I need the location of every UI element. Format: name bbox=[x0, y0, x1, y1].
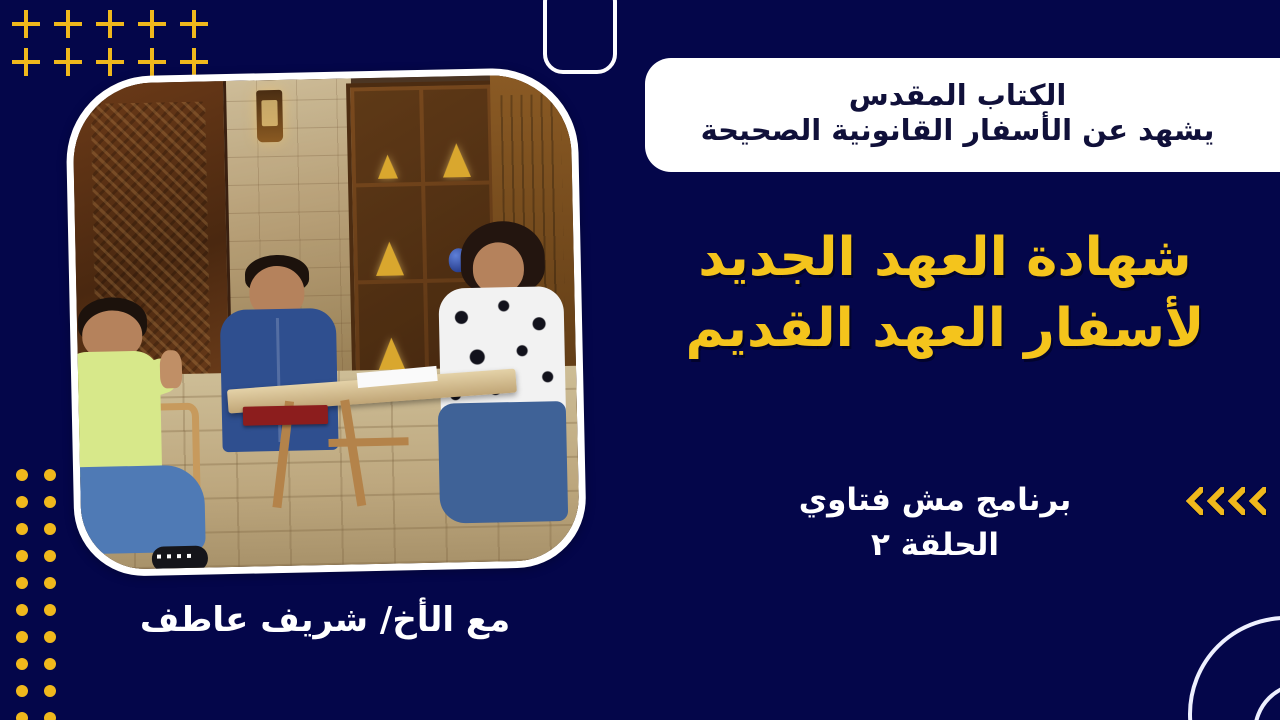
dot-icon bbox=[12, 624, 40, 651]
plus-icon bbox=[10, 6, 52, 44]
shelf-cell bbox=[356, 186, 423, 280]
table-crossbar bbox=[328, 437, 408, 447]
dot-icon bbox=[12, 516, 40, 543]
banner-line-2: يشهد عن الأسفار القانونية الصحيحة bbox=[701, 114, 1215, 147]
chevron-right-icon bbox=[1186, 487, 1203, 515]
dot-icon bbox=[12, 651, 40, 678]
presenter-caption: مع الأخ/ شريف عاطف bbox=[95, 600, 555, 640]
dot-icon bbox=[40, 516, 68, 543]
plus-icon bbox=[178, 6, 220, 44]
chevron-arrows-decoration bbox=[1186, 487, 1266, 515]
subtitle-episode-number: الحلقة ٢ bbox=[700, 523, 1170, 568]
main-title-line-2: لأسفار العهد القديم bbox=[640, 293, 1250, 364]
studio-scene-illustration bbox=[72, 74, 580, 570]
shelf-cell bbox=[358, 283, 425, 377]
lantern-icon bbox=[256, 90, 283, 143]
studio-photo bbox=[72, 74, 580, 570]
dot-icon bbox=[40, 570, 68, 597]
dot-icon bbox=[40, 597, 68, 624]
plus-icon bbox=[10, 44, 52, 82]
main-title: شهادة العهد الجديد لأسفار العهد القديم bbox=[640, 222, 1250, 364]
shelf-cell bbox=[423, 88, 490, 182]
main-title-line-1: شهادة العهد الجديد bbox=[640, 222, 1250, 293]
subtitle: برنامج مش فتاوي الحلقة ٢ bbox=[700, 478, 1170, 568]
dot-icon bbox=[40, 678, 68, 705]
dot-icon bbox=[12, 489, 40, 516]
dot-icon bbox=[40, 705, 68, 720]
dot-icon bbox=[12, 570, 40, 597]
chevron-right-icon bbox=[1228, 487, 1245, 515]
banner-line-1: الكتاب المقدس bbox=[849, 79, 1067, 112]
subtitle-program-name: برنامج مش فتاوي bbox=[700, 478, 1170, 523]
plus-icon bbox=[136, 6, 178, 44]
dot-icon bbox=[40, 624, 68, 651]
plus-grid-decoration bbox=[10, 6, 220, 82]
dot-icon bbox=[40, 462, 68, 489]
chevron-right-icon bbox=[1249, 487, 1266, 515]
thumbnail-canvas: الكتاب المقدس يشهد عن الأسفار القانونية … bbox=[0, 0, 1280, 720]
red-book bbox=[243, 405, 328, 426]
chevron-right-icon bbox=[1207, 487, 1224, 515]
dot-icon bbox=[40, 543, 68, 570]
plus-icon bbox=[52, 6, 94, 44]
plus-icon bbox=[94, 6, 136, 44]
headline-banner: الكتاب المقدس يشهد عن الأسفار القانونية … bbox=[645, 58, 1280, 172]
dot-icon bbox=[12, 597, 40, 624]
dot-icon bbox=[12, 705, 40, 720]
dot-icon bbox=[40, 489, 68, 516]
plus-icon bbox=[52, 44, 94, 82]
dot-icon bbox=[12, 543, 40, 570]
person-guest-left bbox=[72, 295, 212, 570]
dot-icon bbox=[40, 651, 68, 678]
plus-icon bbox=[94, 44, 136, 82]
studio-photo-card bbox=[65, 67, 587, 578]
dot-icon bbox=[12, 678, 40, 705]
rounded-square-outline-decoration bbox=[543, 0, 617, 74]
shelf-cell bbox=[354, 90, 421, 184]
dot-grid-decoration bbox=[12, 462, 68, 720]
dot-icon bbox=[12, 462, 40, 489]
